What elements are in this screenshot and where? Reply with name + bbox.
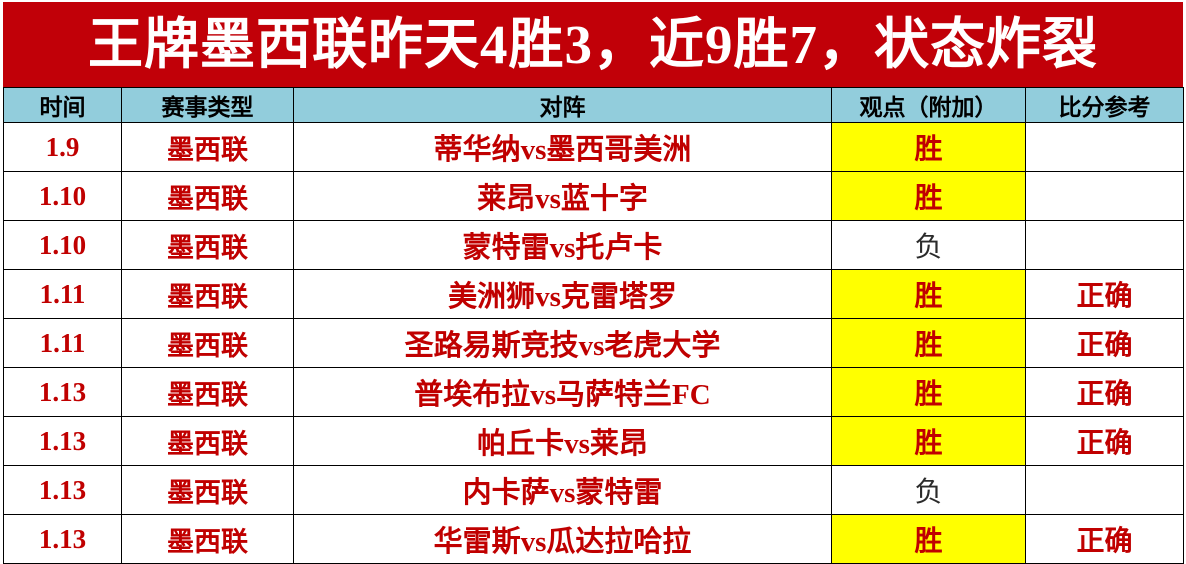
cell-score — [1026, 221, 1184, 270]
table-row: 1.9墨西联蒂华纳vs墨西哥美洲胜 — [4, 123, 1184, 172]
cell-time: 1.9 — [4, 123, 122, 172]
cell-view: 胜 — [832, 515, 1026, 564]
title-banner: 王牌墨西联昨天4胜3，近9胜7，状态炸裂 — [3, 2, 1183, 87]
cell-view: 胜 — [832, 123, 1026, 172]
column-header-view: 观点（附加） — [832, 88, 1026, 123]
cell-score — [1026, 466, 1184, 515]
cell-match: 内卡萨vs蒙特雷 — [294, 466, 832, 515]
cell-score — [1026, 123, 1184, 172]
cell-match: 华雷斯vs瓜达拉哈拉 — [294, 515, 832, 564]
cell-league: 墨西联 — [122, 270, 294, 319]
cell-league: 墨西联 — [122, 515, 294, 564]
cell-match: 美洲狮vs克雷塔罗 — [294, 270, 832, 319]
cell-match: 帕丘卡vs莱昂 — [294, 417, 832, 466]
page-title: 王牌墨西联昨天4胜3，近9胜7，状态炸裂 — [88, 17, 1098, 72]
cell-match: 圣路易斯竞技vs老虎大学 — [294, 319, 832, 368]
cell-time: 1.10 — [4, 221, 122, 270]
cell-league: 墨西联 — [122, 417, 294, 466]
column-header-time: 时间 — [4, 88, 122, 123]
table-row: 1.10墨西联莱昂vs蓝十字胜 — [4, 172, 1184, 221]
table-row: 1.11墨西联圣路易斯竞技vs老虎大学胜正确 — [4, 319, 1184, 368]
predictions-table: 时间 赛事类型 对阵 观点（附加） 比分参考 1.9墨西联蒂华纳vs墨西哥美洲胜… — [3, 87, 1184, 564]
table-row: 1.10墨西联蒙特雷vs托卢卡负 — [4, 221, 1184, 270]
cell-league: 墨西联 — [122, 319, 294, 368]
cell-view: 胜 — [832, 319, 1026, 368]
cell-view: 负 — [832, 221, 1026, 270]
header-row: 时间 赛事类型 对阵 观点（附加） 比分参考 — [4, 88, 1184, 123]
page-root: 王牌墨西联昨天4胜3，近9胜7，状态炸裂 时间 赛事类型 对阵 观点（附加） 比… — [0, 0, 1186, 562]
cell-league: 墨西联 — [122, 172, 294, 221]
table-row: 1.11墨西联美洲狮vs克雷塔罗胜正确 — [4, 270, 1184, 319]
column-header-league: 赛事类型 — [122, 88, 294, 123]
cell-time: 1.13 — [4, 368, 122, 417]
cell-time: 1.11 — [4, 270, 122, 319]
cell-match: 莱昂vs蓝十字 — [294, 172, 832, 221]
table-row: 1.13墨西联帕丘卡vs莱昂胜正确 — [4, 417, 1184, 466]
cell-match: 普埃布拉vs马萨特兰FC — [294, 368, 832, 417]
column-header-score: 比分参考 — [1026, 88, 1184, 123]
cell-time: 1.13 — [4, 417, 122, 466]
cell-time: 1.11 — [4, 319, 122, 368]
cell-view: 胜 — [832, 417, 1026, 466]
cell-score: 正确 — [1026, 368, 1184, 417]
table-body: 1.9墨西联蒂华纳vs墨西哥美洲胜1.10墨西联莱昂vs蓝十字胜1.10墨西联蒙… — [4, 123, 1184, 564]
cell-time: 1.10 — [4, 172, 122, 221]
table-row: 1.13墨西联普埃布拉vs马萨特兰FC胜正确 — [4, 368, 1184, 417]
cell-league: 墨西联 — [122, 221, 294, 270]
table-row: 1.13墨西联内卡萨vs蒙特雷负 — [4, 466, 1184, 515]
column-header-match: 对阵 — [294, 88, 832, 123]
cell-time: 1.13 — [4, 466, 122, 515]
cell-view: 胜 — [832, 270, 1026, 319]
cell-match: 蒂华纳vs墨西哥美洲 — [294, 123, 832, 172]
cell-league: 墨西联 — [122, 123, 294, 172]
cell-score: 正确 — [1026, 515, 1184, 564]
cell-view: 胜 — [832, 368, 1026, 417]
cell-view: 负 — [832, 466, 1026, 515]
cell-score: 正确 — [1026, 270, 1184, 319]
table-row: 1.13墨西联华雷斯vs瓜达拉哈拉胜正确 — [4, 515, 1184, 564]
cell-view: 胜 — [832, 172, 1026, 221]
cell-score — [1026, 172, 1184, 221]
cell-score: 正确 — [1026, 319, 1184, 368]
cell-league: 墨西联 — [122, 466, 294, 515]
cell-score: 正确 — [1026, 417, 1184, 466]
cell-match: 蒙特雷vs托卢卡 — [294, 221, 832, 270]
table-header: 时间 赛事类型 对阵 观点（附加） 比分参考 — [4, 88, 1184, 123]
cell-league: 墨西联 — [122, 368, 294, 417]
cell-time: 1.13 — [4, 515, 122, 564]
